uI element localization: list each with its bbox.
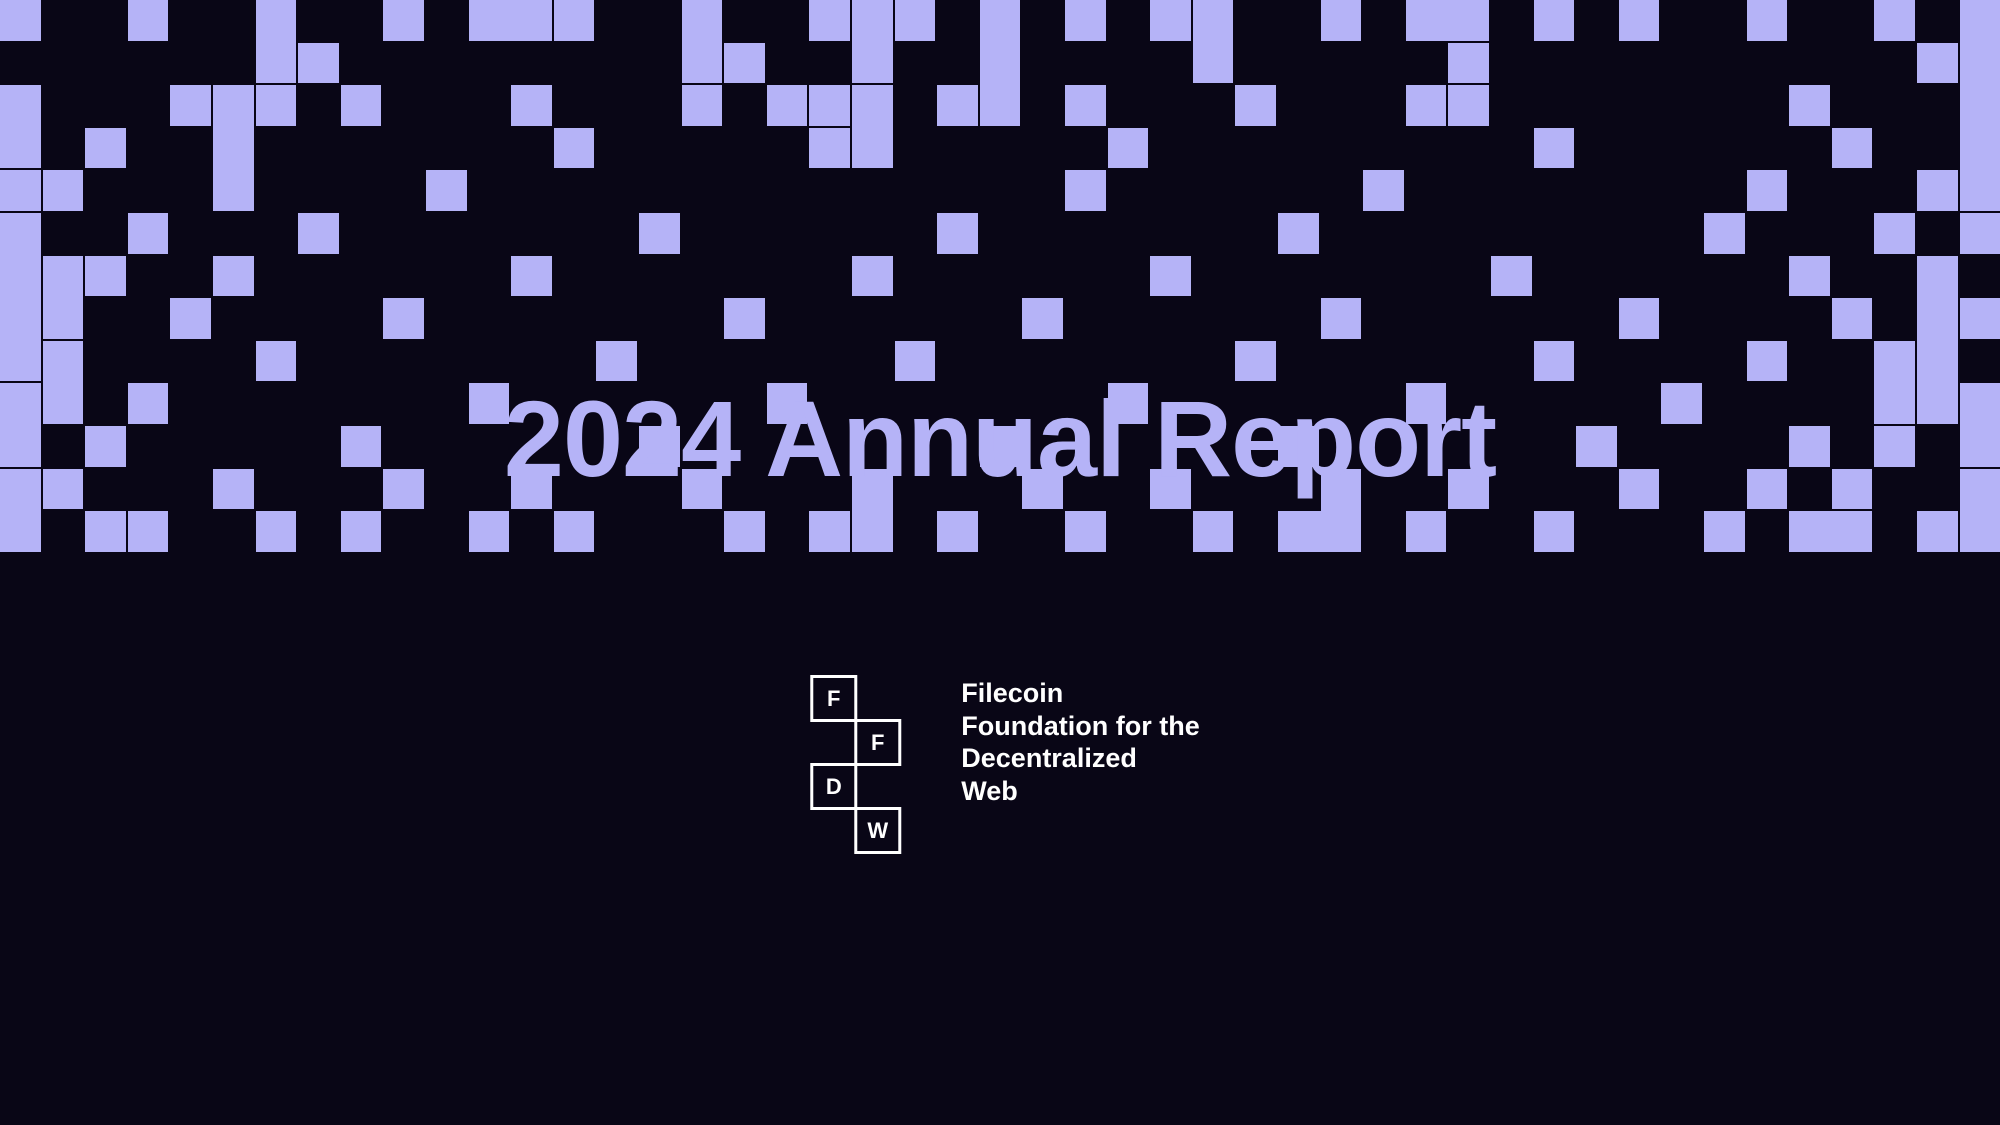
ffdw-wordmark: Filecoin Foundation for the Decentralize… — [961, 675, 1199, 807]
wordmark-line-1: Filecoin — [961, 677, 1199, 710]
logo-square-f1: F — [810, 675, 857, 722]
logo-square-w: W — [854, 807, 901, 854]
logo-square-d: D — [810, 763, 857, 810]
annual-report-cover: 2024 Annual Report F F D W Filecoin Foun… — [0, 0, 2000, 1125]
cover-content: 2024 Annual Report F F D W Filecoin Foun… — [0, 0, 2000, 1125]
ffdw-logo-lockup[interactable]: F F D W Filecoin Foundation for the Dece… — [800, 675, 1199, 857]
wordmark-line-4: Web — [961, 775, 1199, 808]
logo-square-f2: F — [854, 719, 901, 766]
page-title: 2024 Annual Report — [0, 385, 2000, 493]
wordmark-line-2: Foundation for the — [961, 710, 1199, 743]
wordmark-line-3: Decentralized — [961, 742, 1199, 775]
ffdw-logo-mark-icon: F F D W — [800, 675, 918, 857]
